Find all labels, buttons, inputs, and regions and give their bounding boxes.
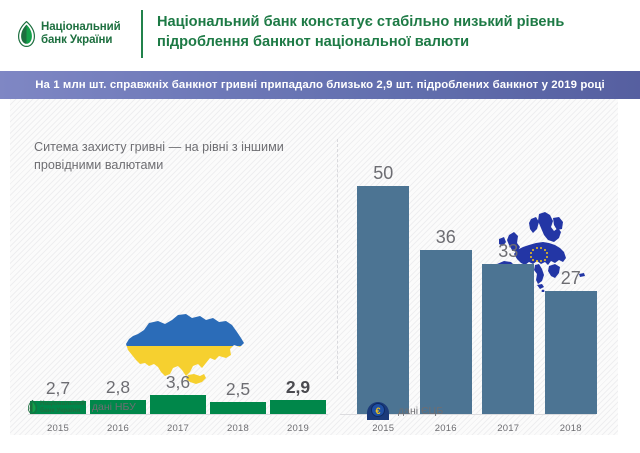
bar-label: 2015 [372, 423, 394, 434]
ecb-logo-icon: € [365, 400, 391, 422]
bar-value: 50 [373, 163, 393, 183]
bar-slot: 27 2018 [540, 84, 603, 414]
bar-value: 36 [436, 227, 456, 247]
bar-label: 2018 [560, 423, 582, 434]
bar-value: 3,6 [166, 372, 190, 392]
nbu-leaf-icon [18, 21, 35, 47]
bar-slot: 2,5 2018 [208, 294, 268, 414]
infographic-root: Національний банк України Національний б… [0, 0, 640, 453]
bar-slot: 2,7 2015 [28, 294, 88, 414]
chart-divider [337, 139, 338, 379]
bar-value: 33 [498, 241, 518, 261]
bar-rect [210, 402, 266, 414]
bar-rect [270, 400, 326, 414]
bar-rect [357, 186, 409, 414]
bar-label: 2016 [107, 423, 129, 434]
nbu-leaf-icon-small [28, 400, 37, 414]
bar-label: 2019 [287, 423, 309, 434]
panel-right-margin [618, 99, 640, 453]
bar-slot: 3,6 2017 [148, 294, 208, 414]
header-divider [141, 10, 143, 58]
source-label-ecb: дані ЄЦБ [398, 405, 443, 417]
caption-text: Ситема захисту гривні — на рівні з іншим… [34, 138, 324, 174]
bar-label: 2017 [167, 423, 189, 434]
bar-rect [482, 264, 534, 414]
bar-label: 2017 [497, 423, 519, 434]
nbu-logo-text-small: Національний банк України [40, 400, 85, 415]
bar-value: 2,8 [106, 377, 130, 397]
panel-left-margin [0, 99, 10, 453]
bar-slot: 2,8 2016 [88, 294, 148, 414]
svg-text:€: € [375, 406, 380, 416]
page-title: Національний банк констатує стабільно ни… [157, 12, 627, 52]
source-label-nbu: дані НБУ [92, 401, 136, 413]
chart-hryvnia-bars: 2,7 2015 2,8 2016 3,6 2017 2,5 [28, 294, 328, 414]
nbu-logo-icon: Національний банк України [28, 400, 85, 415]
nbu-logo: Національний банк України [18, 14, 130, 54]
bar-slot: 33 2017 [477, 84, 540, 414]
bar-value-highlight: 2,9 [286, 377, 310, 397]
bar-rect [420, 250, 472, 414]
nbu-logo-small-line2: банк України [40, 407, 85, 414]
bar-value: 27 [561, 268, 581, 288]
nbu-logo-line1: Національний [41, 21, 121, 35]
nbu-logo-line2: банк України [41, 34, 121, 48]
bar-label: 2015 [47, 423, 69, 434]
bar-slot: 2,9 2019 [268, 294, 328, 414]
chart-hryvnia: 2,7 2015 2,8 2016 3,6 2017 2,5 [28, 319, 328, 439]
bar-label: 2018 [227, 423, 249, 434]
source-ecb: € дані ЄЦБ [365, 400, 443, 422]
bar-label: 2016 [435, 423, 457, 434]
nbu-logo-text: Національний банк України [41, 21, 121, 48]
bar-value: 2,5 [226, 379, 250, 399]
source-nbu: Національний банк України дані НБУ [28, 400, 136, 415]
panel-bottom-margin [0, 435, 640, 453]
header: Національний банк України Національний б… [0, 0, 640, 71]
bar-rect [150, 395, 206, 414]
chart-euro-bars: 50 2015 36 2016 33 2017 27 20 [352, 84, 602, 414]
bar-slot: 50 2015 [352, 84, 415, 414]
bar-slot: 36 2016 [415, 84, 478, 414]
bar-rect [545, 291, 597, 414]
bar-value: 2,7 [46, 378, 70, 398]
chart-euro: 50 2015 36 2016 33 2017 27 20 [352, 109, 602, 439]
